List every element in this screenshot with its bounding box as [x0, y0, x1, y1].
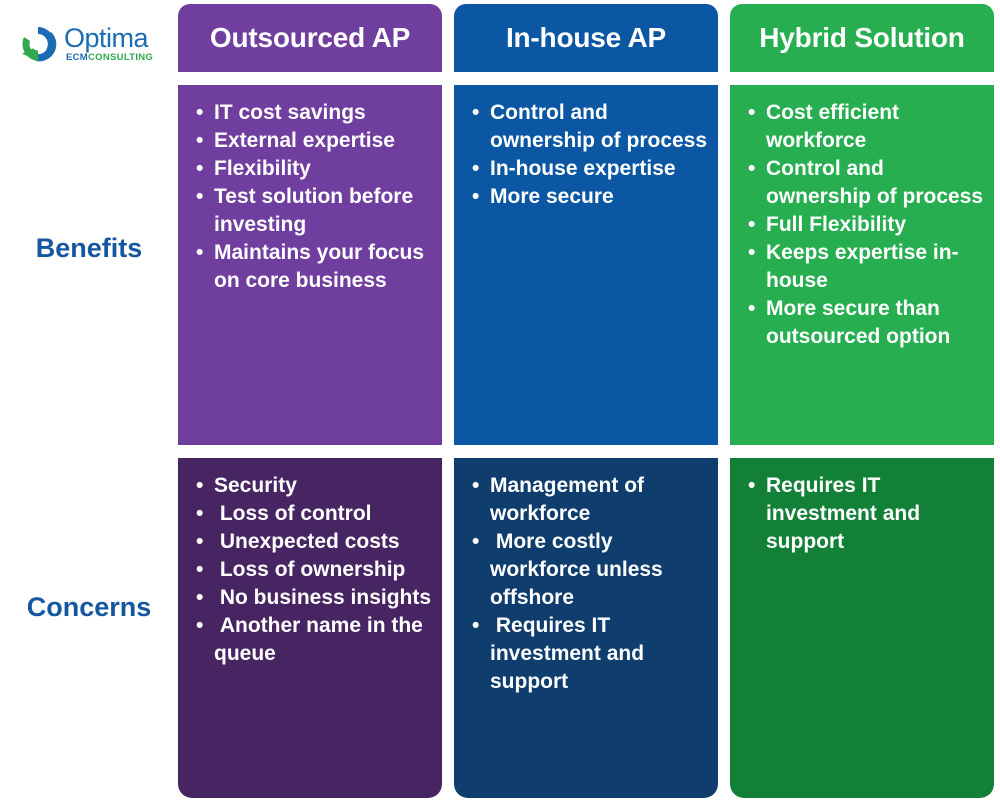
bullet-item: More secure: [468, 183, 708, 211]
bullet-item: Cost efficient workforce: [744, 99, 984, 155]
cell-concerns-outsourced: Security Loss of control Unexpected cost…: [178, 458, 442, 798]
bullet-item: Keeps expertise in-house: [744, 239, 984, 295]
column-header-outsourced: Outsourced AP: [178, 4, 442, 72]
bullet-item: Security: [192, 472, 432, 500]
cell-benefits-inhouse: Control and ownership of processIn-house…: [454, 85, 718, 445]
comparison-grid: Outsourced AP In-house AP Hybrid Solutio…: [178, 4, 994, 794]
bullet-item: Test solution before investing: [192, 183, 432, 239]
bullet-item: In-house expertise: [468, 155, 708, 183]
bullet-list: Security Loss of control Unexpected cost…: [192, 472, 432, 668]
brand-tagline-secondary: CONSULTING: [88, 52, 153, 63]
bullet-item: Loss of ownership: [192, 556, 432, 584]
bullet-item: Requires IT investment and support: [468, 612, 708, 696]
bullet-item: More costly workforce unless offshore: [468, 528, 708, 612]
bullet-list: Cost efficient workforceControl and owne…: [744, 99, 984, 351]
comparison-infographic: Optima ECMCONSULTING Benefits Concerns O…: [0, 0, 1000, 802]
bullet-item: Requires IT investment and support: [744, 472, 984, 556]
brand-tagline: ECMCONSULTING: [66, 53, 153, 63]
cell-concerns-inhouse: Management of workforce More costly work…: [454, 458, 718, 798]
bullet-item: No business insights: [192, 584, 432, 612]
row-label-benefits: Benefits: [0, 233, 178, 264]
bullet-item: External expertise: [192, 127, 432, 155]
cell-benefits-outsourced: IT cost savingsExternal expertiseFlexibi…: [178, 85, 442, 445]
brand-wordmark: Optima ECMCONSULTING: [64, 25, 153, 63]
bullet-item: Full Flexibility: [744, 211, 984, 239]
brand-name: Optima: [64, 25, 148, 52]
column-header-hybrid: Hybrid Solution: [730, 4, 994, 72]
bullet-item: Loss of control: [192, 500, 432, 528]
bullet-item: Unexpected costs: [192, 528, 432, 556]
row-label-concerns: Concerns: [0, 592, 178, 623]
bullet-item: Control and ownership of process: [744, 155, 984, 211]
brand-tagline-primary: ECM: [66, 52, 88, 63]
cell-benefits-hybrid: Cost efficient workforceControl and owne…: [730, 85, 994, 445]
bullet-list: Management of workforce More costly work…: [468, 472, 708, 696]
bullet-item: More secure than outsourced option: [744, 295, 984, 351]
bullet-list: IT cost savingsExternal expertiseFlexibi…: [192, 99, 432, 295]
bullet-item: Flexibility: [192, 155, 432, 183]
bullet-list: Requires IT investment and support: [744, 472, 984, 556]
bullet-item: Control and ownership of process: [468, 99, 708, 155]
bullet-item: Maintains your focus on core business: [192, 239, 432, 295]
cell-concerns-hybrid: Requires IT investment and support: [730, 458, 994, 798]
column-header-inhouse: In-house AP: [454, 4, 718, 72]
bullet-item: Management of workforce: [468, 472, 708, 528]
bullet-item: IT cost savings: [192, 99, 432, 127]
bullet-item: Another name in the queue: [192, 612, 432, 668]
recycle-arrow-icon: [18, 24, 58, 64]
brand-logo: Optima ECMCONSULTING: [18, 20, 168, 68]
bullet-list: Control and ownership of processIn-house…: [468, 99, 708, 211]
